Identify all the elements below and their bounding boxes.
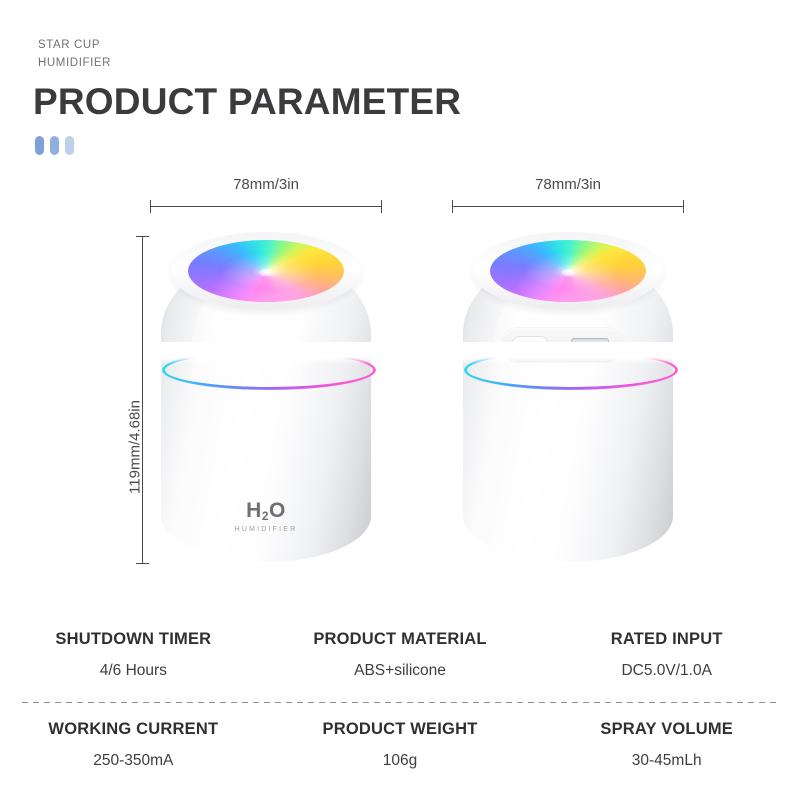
h2o-logo-2: 2 bbox=[262, 509, 269, 523]
dimension-cap-top bbox=[136, 236, 149, 237]
dimension-width-right-label: 78mm/3in bbox=[452, 176, 684, 193]
spec-label: RATED INPUT bbox=[533, 628, 800, 650]
rgb-light-disc bbox=[188, 240, 344, 302]
dimension-cap-left bbox=[452, 200, 453, 213]
dimension-cap-left bbox=[150, 200, 151, 213]
h2o-logo: H2O HUMIDIFIER bbox=[161, 500, 371, 533]
dimension-line bbox=[142, 236, 143, 564]
spec-label: WORKING CURRENT bbox=[0, 718, 267, 740]
indicator-led-icon bbox=[558, 343, 562, 347]
h2o-logo-o: O bbox=[269, 499, 286, 522]
spec-label: PRODUCT WEIGHT bbox=[267, 718, 534, 740]
h2o-logo-h: H bbox=[246, 499, 262, 522]
humidifier-front-view: H2O HUMIDIFIER bbox=[161, 232, 371, 562]
spec-value: DC5.0V/1.0A bbox=[533, 660, 800, 682]
rgb-light-disc bbox=[490, 240, 646, 302]
brand-line-2: HUMIDIFIER bbox=[38, 54, 111, 72]
mist-nozzle bbox=[561, 269, 575, 276]
dimension-width-left: 78mm/3in bbox=[150, 200, 382, 214]
spec-value: 4/6 Hours bbox=[0, 660, 267, 682]
dimension-width-left-label: 78mm/3in bbox=[150, 176, 382, 193]
spec-value: 106g bbox=[267, 750, 534, 772]
accent-bars-decoration bbox=[35, 136, 74, 155]
spec-row: SHUTDOWN TIMER 4/6 Hours PRODUCT MATERIA… bbox=[0, 628, 800, 682]
brand-name: STAR CUP HUMIDIFIER bbox=[38, 36, 111, 72]
accent-bar-1 bbox=[35, 136, 44, 155]
brand-line-1: STAR CUP bbox=[38, 36, 111, 54]
spec-cell: PRODUCT MATERIAL ABS+silicone bbox=[267, 628, 534, 682]
h2o-logo-text: H2O bbox=[161, 500, 371, 524]
spec-divider bbox=[22, 702, 778, 703]
spec-value: ABS+silicone bbox=[267, 660, 534, 682]
spec-label: SPRAY VOLUME bbox=[533, 718, 800, 740]
accent-bar-2 bbox=[50, 136, 59, 155]
dimension-height: 119mm/4.68in bbox=[136, 236, 150, 564]
spec-cell: PRODUCT WEIGHT 106g bbox=[267, 718, 534, 772]
spec-label: PRODUCT MATERIAL bbox=[267, 628, 534, 650]
dimension-cap-bottom bbox=[136, 563, 149, 564]
h2o-logo-caption: HUMIDIFIER bbox=[161, 526, 371, 533]
dimension-cap-right bbox=[381, 200, 382, 213]
mist-nozzle bbox=[259, 269, 273, 276]
product-parameter-page: STAR CUP HUMIDIFIER PRODUCT PARAMETER 78… bbox=[0, 0, 800, 800]
dimension-line bbox=[150, 206, 382, 207]
spec-row: WORKING CURRENT 250-350mA PRODUCT WEIGHT… bbox=[0, 718, 800, 772]
spec-cell: SHUTDOWN TIMER 4/6 Hours bbox=[0, 628, 267, 682]
led-ring bbox=[162, 350, 376, 390]
page-title: PRODUCT PARAMETER bbox=[33, 80, 461, 124]
spec-cell: SPRAY VOLUME 30-45mLh bbox=[533, 718, 800, 772]
dimension-line bbox=[452, 206, 684, 207]
dimension-width-right: 78mm/3in bbox=[452, 200, 684, 214]
spec-cell: RATED INPUT DC5.0V/1.0A bbox=[533, 628, 800, 682]
dimension-cap-right bbox=[683, 200, 684, 213]
led-ring bbox=[464, 350, 678, 390]
spec-cell: WORKING CURRENT 250-350mA bbox=[0, 718, 267, 772]
spec-label: SHUTDOWN TIMER bbox=[0, 628, 267, 650]
accent-bar-3 bbox=[65, 136, 74, 155]
spec-value: 250-350mA bbox=[0, 750, 267, 772]
humidifier-back-view bbox=[463, 232, 673, 562]
spec-value: 30-45mLh bbox=[533, 750, 800, 772]
dimension-height-label: 119mm/4.68in bbox=[127, 400, 144, 494]
